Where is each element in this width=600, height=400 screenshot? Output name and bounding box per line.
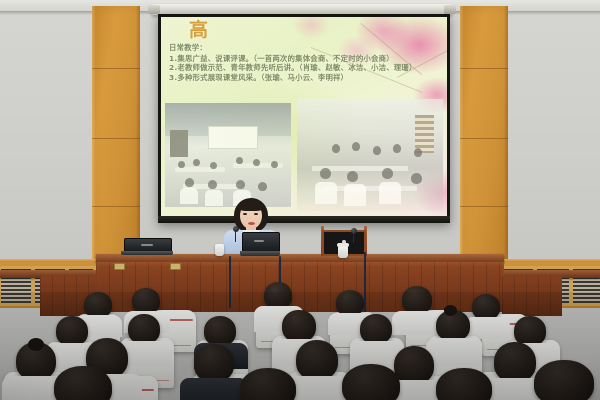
slide-photo-right xyxy=(297,99,443,211)
slide-line-2: 2.老教师做示范、青年教师先听后讲。（肖瑜、赵敏、冰洁、小洁、理珊） xyxy=(169,63,443,73)
slide-title-character: 高 xyxy=(189,21,208,40)
lecture-hall-photo: 高 日常教学： 1.集思广益、说课评课。（一首两次的集体会商、不定时的小会商） … xyxy=(0,0,600,400)
slide-line-1: 1.集思广益、说课评课。（一首两次的集体会商、不定时的小会商） xyxy=(169,54,443,64)
projection-screen: 高 日常教学： 1.集思广益、说课评课。（一首两次的集体会商、不定时的小会商） … xyxy=(161,17,447,219)
slide-text-block: 日常教学： 1.集思广益、说课评课。（一首两次的集体会商、不定时的小会商） 2.… xyxy=(169,43,443,82)
water-cup xyxy=(215,244,224,256)
wall-panel-left xyxy=(92,6,140,268)
presenter-fringe xyxy=(238,200,264,211)
seated-audience xyxy=(0,280,600,400)
slide-photo-left xyxy=(165,103,291,207)
slide-line-0: 日常教学： xyxy=(169,43,443,53)
lidded-cup xyxy=(338,246,348,258)
wall-panel-right xyxy=(460,6,508,268)
microphone xyxy=(350,228,358,242)
slide-line-3: 3.多种形式展现课堂风采。（张瑜、马小云、李明祥） xyxy=(169,73,443,83)
laptop-left xyxy=(121,238,173,255)
laptop-center xyxy=(240,232,280,256)
screen-bottom-bar xyxy=(158,216,450,223)
presenter-microphone xyxy=(232,226,240,242)
